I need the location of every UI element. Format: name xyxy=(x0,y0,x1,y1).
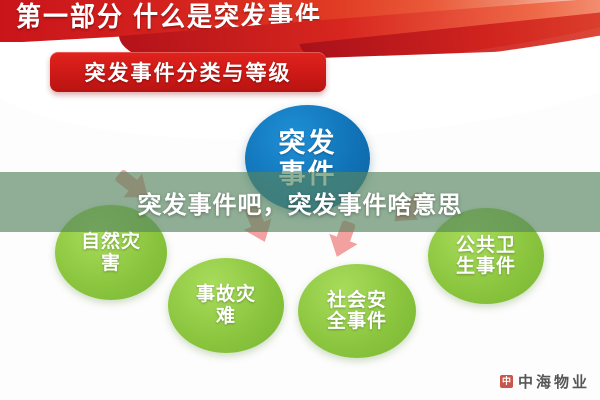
node-public-health-event-line2: 生事件 xyxy=(456,256,516,277)
node-natural-disaster-line2: 害 xyxy=(81,253,141,274)
node-social-security-event-line2: 全事件 xyxy=(327,311,387,332)
node-accident-disaster: 事故灾 难 xyxy=(168,258,284,353)
slide-canvas: 第一部分 什么是突发事件 中海物业管理 突发事件分类与等级 突发 事件 自然灾 … xyxy=(0,0,600,400)
overlay-caption-band: 突发事件吧，突发事件啥意思 xyxy=(0,172,600,232)
node-accident-disaster-line2: 难 xyxy=(196,306,256,327)
node-social-security-event: 社会安 全事件 xyxy=(298,264,416,358)
logo-mark-icon: 中 xyxy=(500,375,513,388)
section-title-chip: 突发事件分类与等级 xyxy=(50,52,326,92)
section-title-label: 突发事件分类与等级 xyxy=(85,57,292,87)
node-accident-disaster-line1: 事故灾 xyxy=(196,284,256,305)
logo-text: 中海物业 xyxy=(518,371,590,392)
node-public-health-event-line1: 公共卫 xyxy=(456,235,516,256)
node-social-security-event-line1: 社会安 xyxy=(327,290,387,311)
overlay-caption-text: 突发事件吧，突发事件啥意思 xyxy=(138,185,463,220)
center-node-line1: 突发 xyxy=(279,128,337,158)
brand-logo: 中 中海物业 xyxy=(500,371,590,392)
node-natural-disaster-line1: 自然灾 xyxy=(81,231,141,252)
